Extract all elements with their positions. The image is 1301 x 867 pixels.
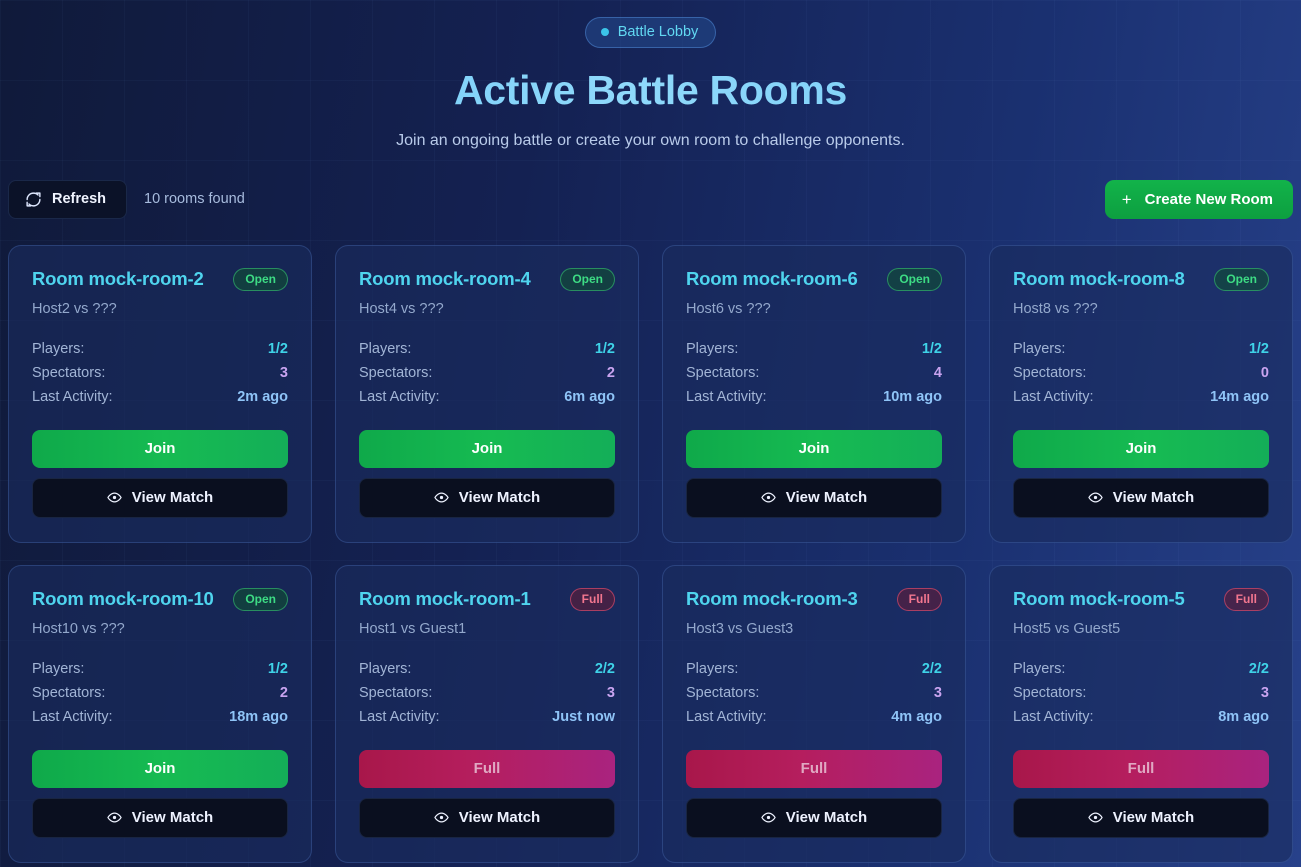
- toolbar-left-group: Refresh 10 rooms found: [8, 180, 245, 219]
- spectators-value: 3: [607, 685, 615, 701]
- room-stats: Players: 2/2 Spectators: 3 Last Activity…: [359, 657, 615, 729]
- room-stats: Players: 2/2 Spectators: 3 Last Activity…: [1013, 657, 1269, 729]
- spectators-value: 3: [1261, 685, 1269, 701]
- lobby-badge: Battle Lobby: [585, 17, 717, 48]
- stat-row-last-activity: Last Activity: 8m ago: [1013, 705, 1269, 729]
- spectators-label: Spectators:: [1013, 685, 1086, 701]
- stat-row-last-activity: Last Activity: Just now: [359, 705, 615, 729]
- spectators-value: 2: [607, 365, 615, 381]
- page-header: Battle Lobby Active Battle Rooms Join an…: [8, 0, 1293, 150]
- room-card[interactable]: Room mock-room-6 Open Host6 vs ??? Playe…: [662, 245, 966, 543]
- room-card-actions: Full View Match: [1013, 750, 1269, 838]
- stat-row-players: Players: 1/2: [686, 337, 942, 361]
- stat-row-last-activity: Last Activity: 14m ago: [1013, 385, 1269, 409]
- last-activity-value: 4m ago: [891, 709, 942, 725]
- stat-row-spectators: Spectators: 4: [686, 361, 942, 385]
- stat-row-players: Players: 2/2: [359, 657, 615, 681]
- spectators-value: 0: [1261, 365, 1269, 381]
- room-card[interactable]: Room mock-room-4 Open Host4 vs ??? Playe…: [335, 245, 639, 543]
- players-label: Players:: [686, 341, 738, 357]
- room-title: Room mock-room-1: [359, 588, 531, 609]
- room-card[interactable]: Room mock-room-1 Full Host1 vs Guest1 Pl…: [335, 565, 639, 863]
- status-badge: Open: [233, 588, 288, 611]
- last-activity-value: 2m ago: [237, 389, 288, 405]
- refresh-button[interactable]: Refresh: [8, 180, 127, 219]
- stat-row-players: Players: 1/2: [32, 657, 288, 681]
- status-badge: Full: [1224, 588, 1269, 611]
- last-activity-label: Last Activity:: [686, 709, 767, 725]
- room-card-actions: Join View Match: [686, 430, 942, 518]
- spectators-label: Spectators:: [686, 365, 759, 381]
- stat-row-last-activity: Last Activity: 10m ago: [686, 385, 942, 409]
- view-match-label: View Match: [786, 490, 867, 505]
- players-label: Players:: [32, 661, 84, 677]
- room-card[interactable]: Room mock-room-3 Full Host3 vs Guest3 Pl…: [662, 565, 966, 863]
- join-button[interactable]: Join: [359, 430, 615, 468]
- room-card[interactable]: Room mock-room-10 Open Host10 vs ??? Pla…: [8, 565, 312, 863]
- page-subtitle: Join an ongoing battle or create your ow…: [8, 132, 1293, 150]
- room-title: Room mock-room-5: [1013, 588, 1185, 609]
- last-activity-label: Last Activity:: [359, 709, 440, 725]
- room-card-actions: Join View Match: [32, 430, 288, 518]
- stat-row-players: Players: 1/2: [1013, 337, 1269, 361]
- view-match-label: View Match: [1113, 490, 1194, 505]
- status-badge: Open: [1214, 268, 1269, 291]
- last-activity-value: Just now: [552, 709, 615, 725]
- last-activity-value: 10m ago: [883, 389, 942, 405]
- status-badge: Full: [570, 588, 615, 611]
- room-matchup: Host3 vs Guest3: [686, 621, 942, 637]
- last-activity-value: 14m ago: [1210, 389, 1269, 405]
- eye-icon: [107, 810, 122, 825]
- full-button: Full: [1013, 750, 1269, 788]
- room-card-actions: Full View Match: [359, 750, 615, 838]
- eye-icon: [434, 490, 449, 505]
- room-card-header: Room mock-room-1 Full: [359, 588, 615, 611]
- spectators-label: Spectators:: [686, 685, 759, 701]
- room-title: Room mock-room-8: [1013, 268, 1185, 289]
- players-value: 1/2: [268, 661, 288, 677]
- room-matchup: Host6 vs ???: [686, 301, 942, 317]
- last-activity-label: Last Activity:: [32, 709, 113, 725]
- spectators-value: 2: [280, 685, 288, 701]
- join-button[interactable]: Join: [686, 430, 942, 468]
- stat-row-last-activity: Last Activity: 18m ago: [32, 705, 288, 729]
- eye-icon: [1088, 490, 1103, 505]
- room-matchup: Host2 vs ???: [32, 301, 288, 317]
- room-stats: Players: 1/2 Spectators: 2 Last Activity…: [359, 337, 615, 409]
- stat-row-spectators: Spectators: 3: [359, 681, 615, 705]
- spectators-label: Spectators:: [359, 685, 432, 701]
- spectators-label: Spectators:: [32, 365, 105, 381]
- eye-icon: [761, 810, 776, 825]
- room-stats: Players: 1/2 Spectators: 0 Last Activity…: [1013, 337, 1269, 409]
- players-label: Players:: [686, 661, 738, 677]
- room-card-actions: Join View Match: [1013, 430, 1269, 518]
- room-stats: Players: 1/2 Spectators: 4 Last Activity…: [686, 337, 942, 409]
- view-match-button[interactable]: View Match: [1013, 798, 1269, 838]
- players-label: Players:: [1013, 661, 1065, 677]
- last-activity-value: 8m ago: [1218, 709, 1269, 725]
- players-label: Players:: [1013, 341, 1065, 357]
- eye-icon: [1088, 810, 1103, 825]
- stat-row-players: Players: 2/2: [1013, 657, 1269, 681]
- room-card-actions: Join View Match: [359, 430, 615, 518]
- stat-row-last-activity: Last Activity: 2m ago: [32, 385, 288, 409]
- lobby-page: Battle Lobby Active Battle Rooms Join an…: [0, 0, 1301, 863]
- room-card[interactable]: Room mock-room-5 Full Host5 vs Guest5 Pl…: [989, 565, 1293, 863]
- room-card-header: Room mock-room-2 Open: [32, 268, 288, 291]
- players-value: 1/2: [1249, 341, 1269, 357]
- room-matchup: Host8 vs ???: [1013, 301, 1269, 317]
- room-card-header: Room mock-room-3 Full: [686, 588, 942, 611]
- room-card-actions: Join View Match: [32, 750, 288, 838]
- last-activity-label: Last Activity:: [1013, 709, 1094, 725]
- players-value: 2/2: [922, 661, 942, 677]
- players-value: 2/2: [1249, 661, 1269, 677]
- status-badge: Open: [233, 268, 288, 291]
- stat-row-players: Players: 1/2: [32, 337, 288, 361]
- join-button[interactable]: Join: [32, 750, 288, 788]
- spectators-label: Spectators:: [1013, 365, 1086, 381]
- spectators-value: 3: [934, 685, 942, 701]
- stat-row-players: Players: 2/2: [686, 657, 942, 681]
- view-match-label: View Match: [459, 810, 540, 825]
- room-matchup: Host10 vs ???: [32, 621, 288, 637]
- rooms-grid: Room mock-room-2 Open Host2 vs ??? Playe…: [8, 245, 1293, 863]
- lobby-badge-label: Battle Lobby: [618, 24, 699, 40]
- status-badge: Open: [887, 268, 942, 291]
- status-badge: Open: [560, 268, 615, 291]
- eye-icon: [761, 490, 776, 505]
- create-new-room-label: Create New Room: [1145, 192, 1273, 207]
- view-match-button[interactable]: View Match: [686, 478, 942, 518]
- full-button: Full: [686, 750, 942, 788]
- eye-icon: [107, 490, 122, 505]
- room-title: Room mock-room-2: [32, 268, 204, 289]
- players-label: Players:: [32, 341, 84, 357]
- stat-row-spectators: Spectators: 2: [32, 681, 288, 705]
- create-new-room-button[interactable]: + Create New Room: [1105, 180, 1293, 219]
- players-value: 1/2: [268, 341, 288, 357]
- room-title: Room mock-room-10: [32, 588, 214, 609]
- spectators-value: 3: [280, 365, 288, 381]
- last-activity-label: Last Activity:: [686, 389, 767, 405]
- view-match-button[interactable]: View Match: [359, 798, 615, 838]
- status-badge: Full: [897, 588, 942, 611]
- join-button[interactable]: Join: [32, 430, 288, 468]
- stat-row-spectators: Spectators: 0: [1013, 361, 1269, 385]
- last-activity-label: Last Activity:: [32, 389, 113, 405]
- room-card-header: Room mock-room-10 Open: [32, 588, 288, 611]
- refresh-button-label: Refresh: [52, 192, 106, 207]
- room-stats: Players: 2/2 Spectators: 3 Last Activity…: [686, 657, 942, 729]
- room-title: Room mock-room-4: [359, 268, 531, 289]
- room-card[interactable]: Room mock-room-2 Open Host2 vs ??? Playe…: [8, 245, 312, 543]
- room-card-actions: Full View Match: [686, 750, 942, 838]
- page-title: Active Battle Rooms: [8, 68, 1293, 113]
- room-card-header: Room mock-room-6 Open: [686, 268, 942, 291]
- spectators-value: 4: [934, 365, 942, 381]
- last-activity-value: 6m ago: [564, 389, 615, 405]
- spectators-label: Spectators:: [32, 685, 105, 701]
- room-stats: Players: 1/2 Spectators: 2 Last Activity…: [32, 657, 288, 729]
- room-card-header: Room mock-room-5 Full: [1013, 588, 1269, 611]
- view-match-button[interactable]: View Match: [359, 478, 615, 518]
- stat-row-spectators: Spectators: 2: [359, 361, 615, 385]
- stat-row-spectators: Spectators: 3: [686, 681, 942, 705]
- view-match-button[interactable]: View Match: [686, 798, 942, 838]
- room-matchup: Host1 vs Guest1: [359, 621, 615, 637]
- last-activity-label: Last Activity:: [359, 389, 440, 405]
- players-value: 2/2: [595, 661, 615, 677]
- room-card-header: Room mock-room-8 Open: [1013, 268, 1269, 291]
- status-dot-icon: [601, 28, 609, 36]
- last-activity-value: 18m ago: [229, 709, 288, 725]
- full-button: Full: [359, 750, 615, 788]
- view-match-label: View Match: [132, 810, 213, 825]
- join-button[interactable]: Join: [1013, 430, 1269, 468]
- view-match-button[interactable]: View Match: [1013, 478, 1269, 518]
- stat-row-spectators: Spectators: 3: [1013, 681, 1269, 705]
- room-title: Room mock-room-6: [686, 268, 858, 289]
- toolbar: Refresh 10 rooms found + Create New Room: [8, 180, 1293, 218]
- room-matchup: Host5 vs Guest5: [1013, 621, 1269, 637]
- stat-row-last-activity: Last Activity: 6m ago: [359, 385, 615, 409]
- rooms-found-count: 10 rooms found: [144, 191, 245, 207]
- players-value: 1/2: [595, 341, 615, 357]
- stat-row-players: Players: 1/2: [359, 337, 615, 361]
- view-match-label: View Match: [786, 810, 867, 825]
- stat-row-spectators: Spectators: 3: [32, 361, 288, 385]
- room-card-header: Room mock-room-4 Open: [359, 268, 615, 291]
- view-match-label: View Match: [132, 490, 213, 505]
- room-matchup: Host4 vs ???: [359, 301, 615, 317]
- stat-row-last-activity: Last Activity: 4m ago: [686, 705, 942, 729]
- room-card[interactable]: Room mock-room-8 Open Host8 vs ??? Playe…: [989, 245, 1293, 543]
- view-match-label: View Match: [459, 490, 540, 505]
- view-match-button[interactable]: View Match: [32, 478, 288, 518]
- players-value: 1/2: [922, 341, 942, 357]
- eye-icon: [434, 810, 449, 825]
- plus-icon: +: [1122, 191, 1132, 208]
- room-stats: Players: 1/2 Spectators: 3 Last Activity…: [32, 337, 288, 409]
- spectators-label: Spectators:: [359, 365, 432, 381]
- refresh-icon: [25, 191, 42, 208]
- view-match-label: View Match: [1113, 810, 1194, 825]
- room-title: Room mock-room-3: [686, 588, 858, 609]
- players-label: Players:: [359, 661, 411, 677]
- last-activity-label: Last Activity:: [1013, 389, 1094, 405]
- players-label: Players:: [359, 341, 411, 357]
- view-match-button[interactable]: View Match: [32, 798, 288, 838]
